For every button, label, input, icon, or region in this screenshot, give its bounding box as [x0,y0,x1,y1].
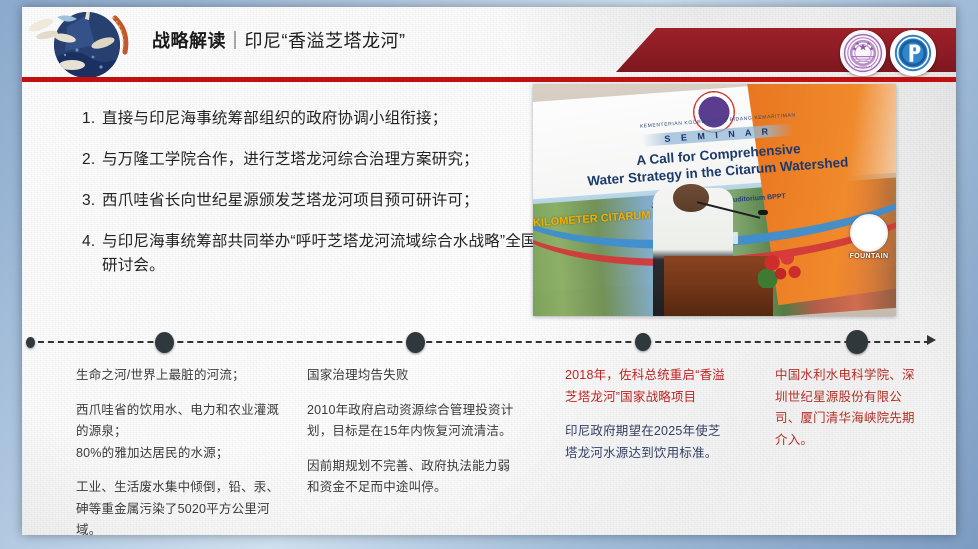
timeline [22,331,956,353]
photo-water-bottle [733,232,738,244]
bullet-list: 1. 直接与印尼海事统筹部组织的政府协调小组衔接； 2. 与万隆工学院合作，进行… [82,107,542,295]
page-title: 战略解读｜印尼“香溢芝塔龙河” [152,29,582,54]
list-item-label: 直接与印尼海事统筹部组织的政府协调小组衔接； [102,107,542,131]
seminar-photo: KEMENTERIAN KOORDINATOR BIDANG KEMARITIM… [533,84,896,316]
column-paragraph: 2010年政府启动资源综合管理投资计划，目标是在15年内恢复河流清洁。 [307,400,522,443]
column-paragraph: 西爪哇省的饮用水、电力和农业灌溉的源泉； 80%的雅加达居民的水源； [76,400,281,465]
timeline-column-2: 国家治理均告失败 2010年政府启动资源综合管理投资计划，目标是在15年内恢复河… [307,365,522,499]
timeline-dot[interactable] [26,337,35,348]
svg-text:UNIVERSITY: UNIVERSITY [854,65,873,69]
list-item-number: 1. [82,107,102,131]
timeline-dot[interactable] [406,332,425,353]
university-seal-logo-icon: UNIVERSITY [840,30,886,76]
list-item-number: 2. [82,148,102,172]
photo-speaker-head [673,184,709,212]
timeline-dot[interactable] [846,330,868,354]
list-item: 3. 西爪哇省长向世纪星源颁发芝塔龙河项目预可研许可； [82,189,542,213]
title-main: 战略解读 [152,31,226,51]
list-item-label: 与印尼海事统筹部共同举办“呼吁芝塔龙河流域综合水战略”全国研讨会。 [102,230,542,278]
column-paragraph: 中国水利水电科学院、深圳世纪星源股份有限公司、厦门清华海峡院先期介入。 [775,365,920,451]
timeline-dot[interactable] [155,332,174,353]
photo-flowers [758,246,805,288]
photo-microphone-head [758,210,768,215]
slide-header: 战略解读｜印尼“香溢芝塔龙河” UNIVERSITY [22,7,956,79]
column-paragraph: 印尼政府期望在2025年使芝塔龙河水源达到饮用标准。 [565,421,725,464]
list-item: 1. 直接与印尼海事统筹部组织的政府协调小组衔接； [82,107,542,131]
column-paragraph: 生命之河/世界上最脏的河流； [76,365,281,387]
slide-canvas: 战略解读｜印尼“香溢芝塔龙河” UNIVERSITY [22,7,956,535]
header-red-rule [22,77,956,82]
title-sub: ｜印尼“香溢芝塔龙河” [226,31,406,51]
column-paragraph-highlight: 2018年，佐科总统重启“香溢芝塔龙河”国家战略项目 [565,365,725,408]
list-item: 4. 与印尼海事统筹部共同举办“呼吁芝塔龙河流域综合水战略”全国研讨会。 [82,230,542,278]
timeline-column-4: 中国水利水电科学院、深圳世纪星源股份有限公司、厦门清华海峡院先期介入。 [775,365,920,451]
photo-podium [664,256,773,316]
list-item-number: 4. [82,230,102,278]
column-paragraph: 因前期规划不完善、政府执法能力弱和资金不足而中途叫停。 [307,456,522,499]
list-item: 2. 与万隆工学院合作，进行芝塔龙河综合治理方案研究； [82,148,542,172]
timeline-column-1: 生命之河/世界上最脏的河流； 西爪哇省的饮用水、电力和农业灌溉的源泉； 80%的… [76,365,281,535]
globe-crane-emblem-icon [27,7,147,81]
list-item-number: 3. [82,189,102,213]
timeline-arrow-icon [927,335,936,345]
fountain-company-logo-icon [890,30,936,76]
photo-sponsor-logo-icon [850,214,888,252]
timeline-column-3: 2018年，佐科总统重启“香溢芝塔龙河”国家战略项目 印尼政府期望在2025年使… [565,365,725,464]
timeline-dot[interactable] [635,333,651,351]
photo-sponsor-label: FOUNTAIN [846,253,892,260]
list-item-label: 与万隆工学院合作，进行芝塔龙河综合治理方案研究； [102,148,542,172]
photo-sponsor: FOUNTAIN [846,214,892,260]
list-item-label: 西爪哇省长向世纪星源颁发芝塔龙河项目预可研许可； [102,189,542,213]
column-paragraph: 工业、生活废水集中倾倒，铅、汞、砷等重金属污染了5020平方公里河域。 [76,477,281,535]
column-paragraph: 国家治理均告失败 [307,365,522,387]
